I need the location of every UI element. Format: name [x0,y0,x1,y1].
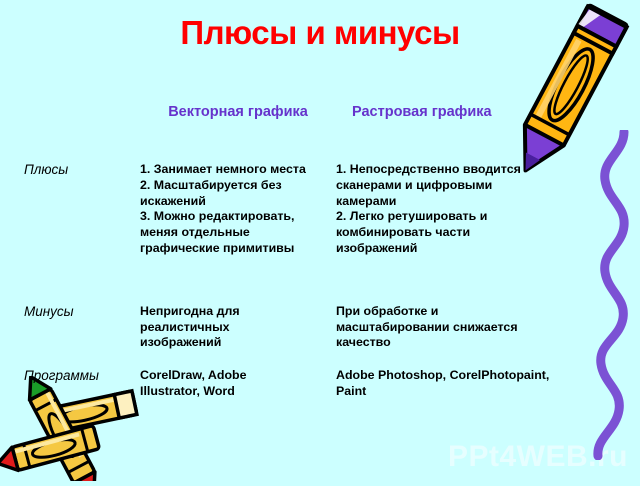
cell-line: качество [336,335,600,351]
cell-line: реалистичных [140,320,326,336]
cell-pros-raster: 1. Непосредственно вводится сканерами и … [336,162,600,256]
row-label-programs: Программы [24,368,134,385]
cell-cons-raster: При обработке и масштабировании снижаетс… [336,304,600,351]
table-row: Минусы Непригодна для реалистичных изобр… [24,304,620,351]
cell-line: При обработке и [336,304,600,320]
cell-line: сканерами и цифровыми [336,178,600,194]
cell-line: камерами [336,194,600,210]
cell-line: Paint [336,384,600,400]
cell-line: Illustrator, Word [140,384,326,400]
cell-line: CorelDraw, Adobe [140,368,326,384]
column-header-vector: Векторная графика [140,104,336,121]
cell-cons-vector: Непригодна для реалистичных изображений [140,304,326,351]
slide-canvas: PPt4WEB.ru [0,0,640,480]
table-row: Программы CorelDraw, Adobe Illustrator, … [24,368,620,399]
cell-line: 2. Масштабируется без [140,178,326,194]
page-title: Плюсы и минусы [0,14,640,52]
cell-line: изображений [140,335,326,351]
cell-line: искажений [140,194,326,210]
cell-line: изображений [336,241,600,257]
table-row: Плюсы 1. Занимает немного места 2. Масшт… [24,162,620,256]
table-header-row: Векторная графика Растровая графика [24,104,620,121]
cell-line: Adobe Photoshop, CorelPhotopaint, [336,368,600,384]
cell-programs-raster: Adobe Photoshop, CorelPhotopaint, Paint [336,368,600,399]
cell-pros-vector: 1. Занимает немного места 2. Масштабируе… [140,162,326,256]
cell-programs-vector: CorelDraw, Adobe Illustrator, Word [140,368,326,399]
cell-line: 1. Непосредственно вводится [336,162,600,178]
cell-line: 3. Можно редактировать, [140,209,326,225]
cell-line: 2. Легко ретушировать и [336,209,600,225]
cell-line: Непригодна для [140,304,326,320]
cell-line: масштабировании снижается [336,320,600,336]
cell-line: меняя отдельные [140,225,326,241]
row-label-pros: Плюсы [24,162,134,179]
cell-line: 1. Занимает немного места [140,162,326,178]
cell-line: графические примитивы [140,241,326,257]
cell-line: комбинировать части [336,225,600,241]
row-label-cons: Минусы [24,304,134,321]
column-header-raster: Растровая графика [336,104,610,121]
comparison-table: Векторная графика Растровая графика Плюс… [24,104,620,399]
